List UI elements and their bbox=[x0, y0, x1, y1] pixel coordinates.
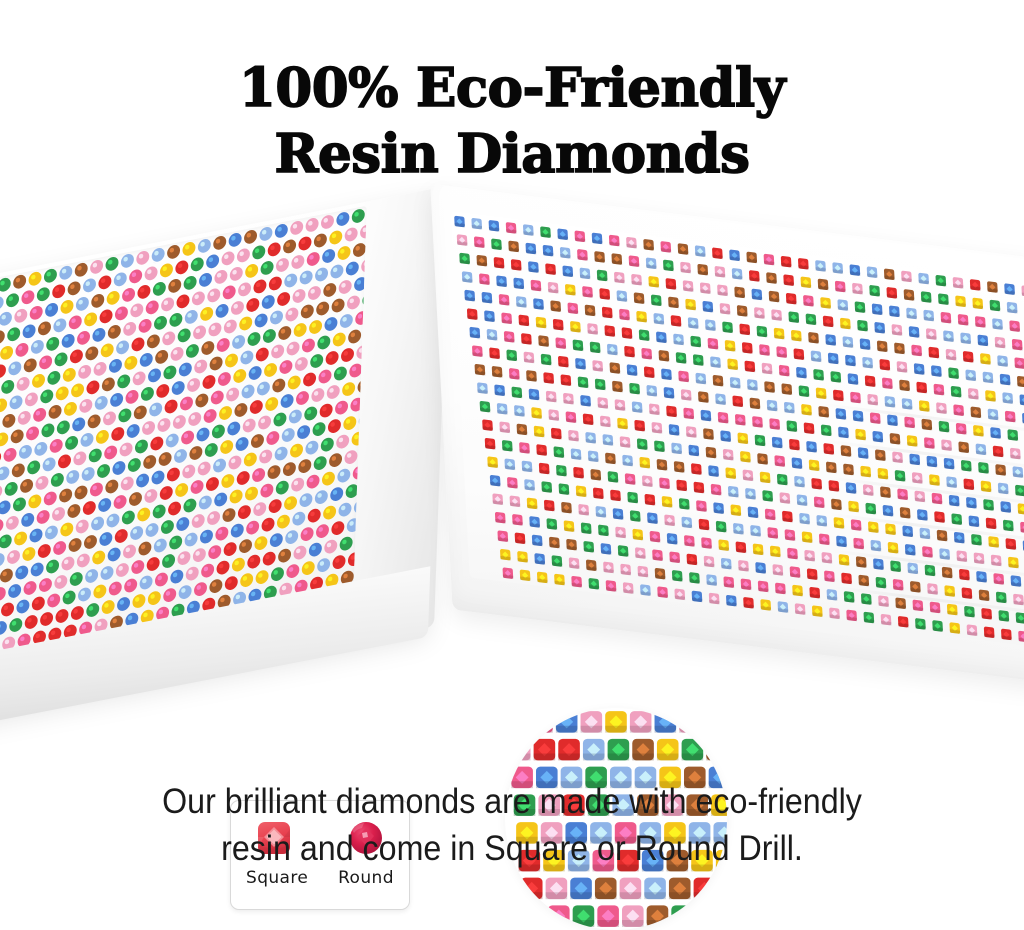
caption-text: Our brilliant diamonds are made with eco… bbox=[41, 778, 983, 872]
tray-well bbox=[451, 212, 1024, 650]
page-title-line-2: Resin Diamonds bbox=[0, 121, 1024, 187]
caption-line-1: Our brilliant diamonds are made with eco… bbox=[41, 778, 983, 825]
caption-line-2: resin and come in Square or Round Drill. bbox=[41, 825, 983, 872]
page-title-line-1: 100% Eco-Friendly bbox=[0, 55, 1024, 121]
tray-of-square-drills bbox=[440, 210, 1024, 630]
square-drill-grid bbox=[451, 212, 1024, 650]
product-photo: Square bbox=[0, 200, 1024, 760]
page-title: 100% Eco-Friendly Resin Diamonds bbox=[0, 55, 1024, 187]
tray-of-round-drills bbox=[0, 235, 440, 665]
